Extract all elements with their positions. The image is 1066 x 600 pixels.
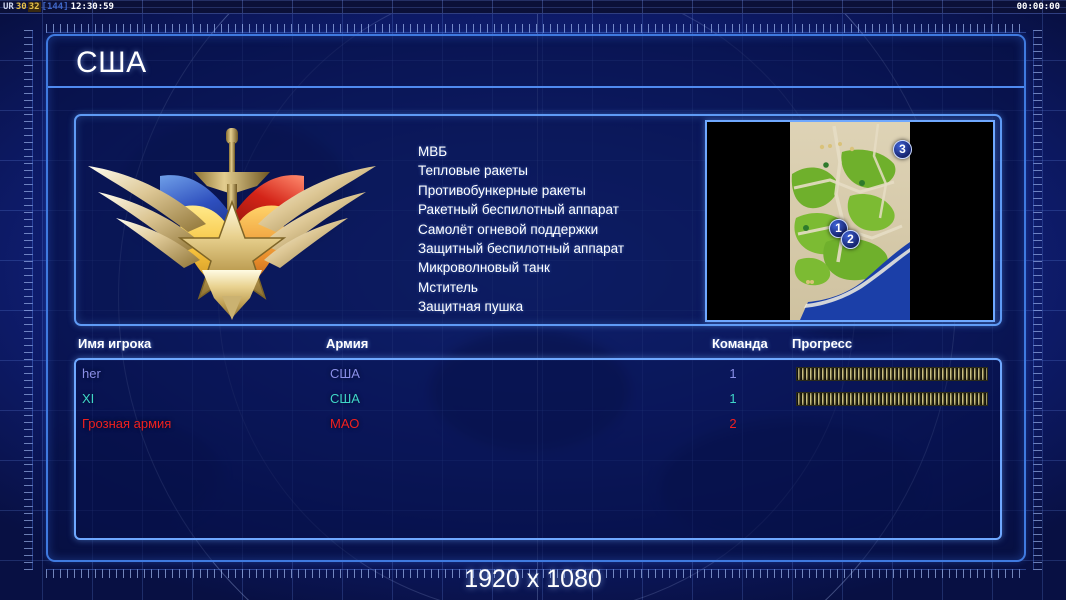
usa-winged-star-emblem: [82, 120, 382, 320]
map-preview: 1 2 3: [705, 120, 995, 322]
player-table-header: Имя игрока Армия Команда Прогресс: [74, 336, 1002, 356]
player-army: МАО: [330, 416, 359, 431]
player-army: США: [330, 366, 360, 381]
player-name: her: [82, 366, 101, 381]
table-row: Грозная армия МАО 2: [76, 412, 1000, 437]
player-progress-bar: [796, 367, 988, 381]
faction-unit-list: МВБ Тепловые ракеты Противобункерные рак…: [418, 142, 708, 317]
player-team: 2: [720, 416, 746, 431]
performance-readout: UR3032[144]12:30:59: [2, 0, 115, 14]
faction-info-panel: МВБ Тепловые ракеты Противобункерные рак…: [74, 114, 1002, 326]
column-header-army: Армия: [326, 336, 368, 351]
unit-list-item: Мститель: [418, 278, 708, 297]
unit-list-item: МВБ: [418, 142, 708, 161]
player-team: 1: [720, 366, 746, 381]
ruler-right: [1033, 30, 1042, 570]
perf-label: UR: [2, 2, 15, 12]
unit-list-item: Микроволновый танк: [418, 258, 708, 277]
unit-list-item: Противобункерные ракеты: [418, 181, 708, 200]
player-progress-bar: [796, 392, 988, 406]
player-name: XI: [82, 391, 94, 406]
table-row: XI США 1: [76, 387, 1000, 412]
player-progress-bar: [796, 417, 988, 431]
player-name: Грозная армия: [82, 416, 171, 431]
unit-list-item: Самолёт огневой поддержки: [418, 220, 708, 239]
table-row: her США 1: [76, 362, 1000, 387]
ruler-top: [46, 24, 1026, 33]
player-army: США: [330, 391, 360, 406]
column-header-progress: Прогресс: [792, 336, 852, 351]
app-background: UR3032[144]12:30:59 00:00:00 США: [0, 0, 1066, 600]
map-start-position: 3: [893, 140, 912, 159]
perf-value-2: 32: [28, 2, 41, 12]
map-terrain-image: [790, 122, 910, 320]
status-bar: UR3032[144]12:30:59 00:00:00: [0, 0, 1066, 14]
ruler-left: [24, 30, 33, 570]
unit-list-item: Защитная пушка: [418, 297, 708, 316]
column-header-player-name: Имя игрока: [78, 336, 151, 351]
unit-list-item: Защитный беспилотный аппарат: [418, 239, 708, 258]
perf-value-1: 30: [15, 2, 28, 12]
resolution-label: 1920 x 1080: [0, 565, 1066, 594]
player-table: her США 1 XI США 1 Грозная армия МАО 2: [74, 358, 1002, 540]
status-bar-grid: [0, 0, 1066, 13]
loading-screen-window: США: [46, 34, 1026, 562]
window-titlebar: США: [48, 36, 1024, 88]
unit-list-item: Тепловые ракеты: [418, 161, 708, 180]
map-start-position: 2: [841, 230, 860, 249]
perf-bracket: [144]: [41, 2, 70, 12]
unit-list-item: Ракетный беспилотный аппарат: [418, 200, 708, 219]
perf-time: 12:30:59: [70, 2, 115, 12]
mission-clock: 00:00:00: [1017, 0, 1060, 14]
player-team: 1: [720, 391, 746, 406]
page-title: США: [76, 46, 147, 80]
column-header-team: Команда: [712, 336, 768, 351]
